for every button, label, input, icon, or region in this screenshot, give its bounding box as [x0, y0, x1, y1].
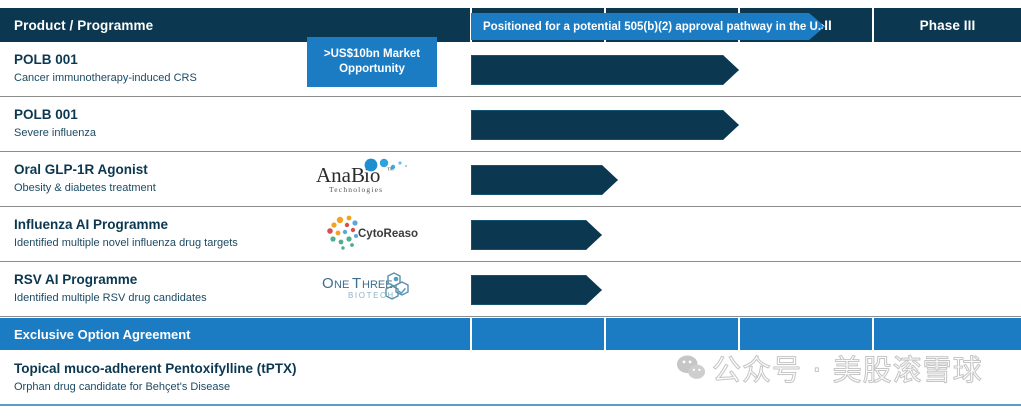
svg-text:BIOTECH: BIOTECH — [348, 291, 395, 300]
progress-arrow — [471, 275, 602, 305]
regulatory-pathway-arrow: Positioned for a potential 505(b)(2) app… — [471, 13, 825, 40]
product-indication: Identified multiple RSV drug candidates — [14, 290, 304, 306]
product-indication: Obesity & diabetes treatment — [14, 180, 304, 196]
svg-text:CytoReason: CytoReason — [358, 228, 418, 240]
product-name: RSV AI Programme — [14, 271, 304, 288]
cytoreason-logo-mark: CytoReason — [322, 214, 418, 254]
product-indication: Cancer immunotherapy-induced CRS — [14, 70, 304, 86]
progress-arrow — [471, 110, 739, 140]
exclusive-option-agreement-banner: Exclusive Option Agreement — [0, 318, 1021, 350]
product-indication: Orphan drug candidate for Behçet's Disea… — [14, 379, 344, 395]
progress-arrow — [471, 55, 739, 85]
header-phase-iii: Phase III — [872, 8, 1021, 42]
onethree-biotech-logo: O NE T HREE BIOTECH — [322, 270, 414, 311]
anabio-technologies-logo: AnaB io ™ Technologies — [316, 158, 416, 201]
product-text-block: RSV AI Programme Identified multiple RSV… — [14, 271, 304, 306]
svg-text:Technologies: Technologies — [329, 185, 383, 194]
product-text-block: Oral GLP-1R Agonist Obesity & diabetes t… — [14, 161, 304, 196]
svg-text:O: O — [322, 275, 334, 292]
option-cell-pre-clinical — [470, 318, 604, 350]
product-text-block: POLB 001 Severe influenza — [14, 106, 304, 141]
product-text-block: POLB 001 Cancer immunotherapy-induced CR… — [14, 51, 304, 86]
product-text-block: Topical muco-adherent Pentoxifylline (tP… — [14, 360, 344, 395]
progress-arrow — [471, 220, 602, 250]
product-indication: Severe influenza — [14, 125, 304, 141]
pipeline-chart: Product / Programme Pre-Clinical Phase I… — [0, 0, 1021, 418]
product-name: Topical muco-adherent Pentoxifylline (tP… — [14, 360, 344, 377]
svg-text:NE: NE — [334, 279, 349, 291]
product-name: Influenza AI Programme — [14, 216, 304, 233]
product-name: Oral GLP-1R Agonist — [14, 161, 304, 178]
product-indication: Identified multiple novel influenza drug… — [14, 235, 304, 251]
option-cell-phase-iii — [872, 318, 1021, 350]
option-cell-phase-i — [604, 318, 738, 350]
cytoreason-logo: CytoReason — [322, 214, 418, 259]
onethree-logo-mark: O NE T HREE BIOTECH — [322, 270, 414, 306]
market-opportunity-callout: >US$10bn Market Opportunity — [307, 37, 437, 87]
svg-text:T: T — [352, 275, 361, 292]
option-agreement-title: Exclusive Option Agreement — [0, 318, 470, 350]
option-cell-phase-ii — [738, 318, 872, 350]
product-name: POLB 001 — [14, 106, 304, 123]
product-name: POLB 001 — [14, 51, 304, 68]
progress-arrow — [471, 165, 618, 195]
table-row: Topical muco-adherent Pentoxifylline (tP… — [0, 350, 1021, 406]
anabio-logo-mark: AnaB io ™ Technologies — [316, 158, 416, 196]
svg-text:AnaB: AnaB — [316, 163, 365, 187]
product-text-block: Influenza AI Programme Identified multip… — [14, 216, 304, 251]
